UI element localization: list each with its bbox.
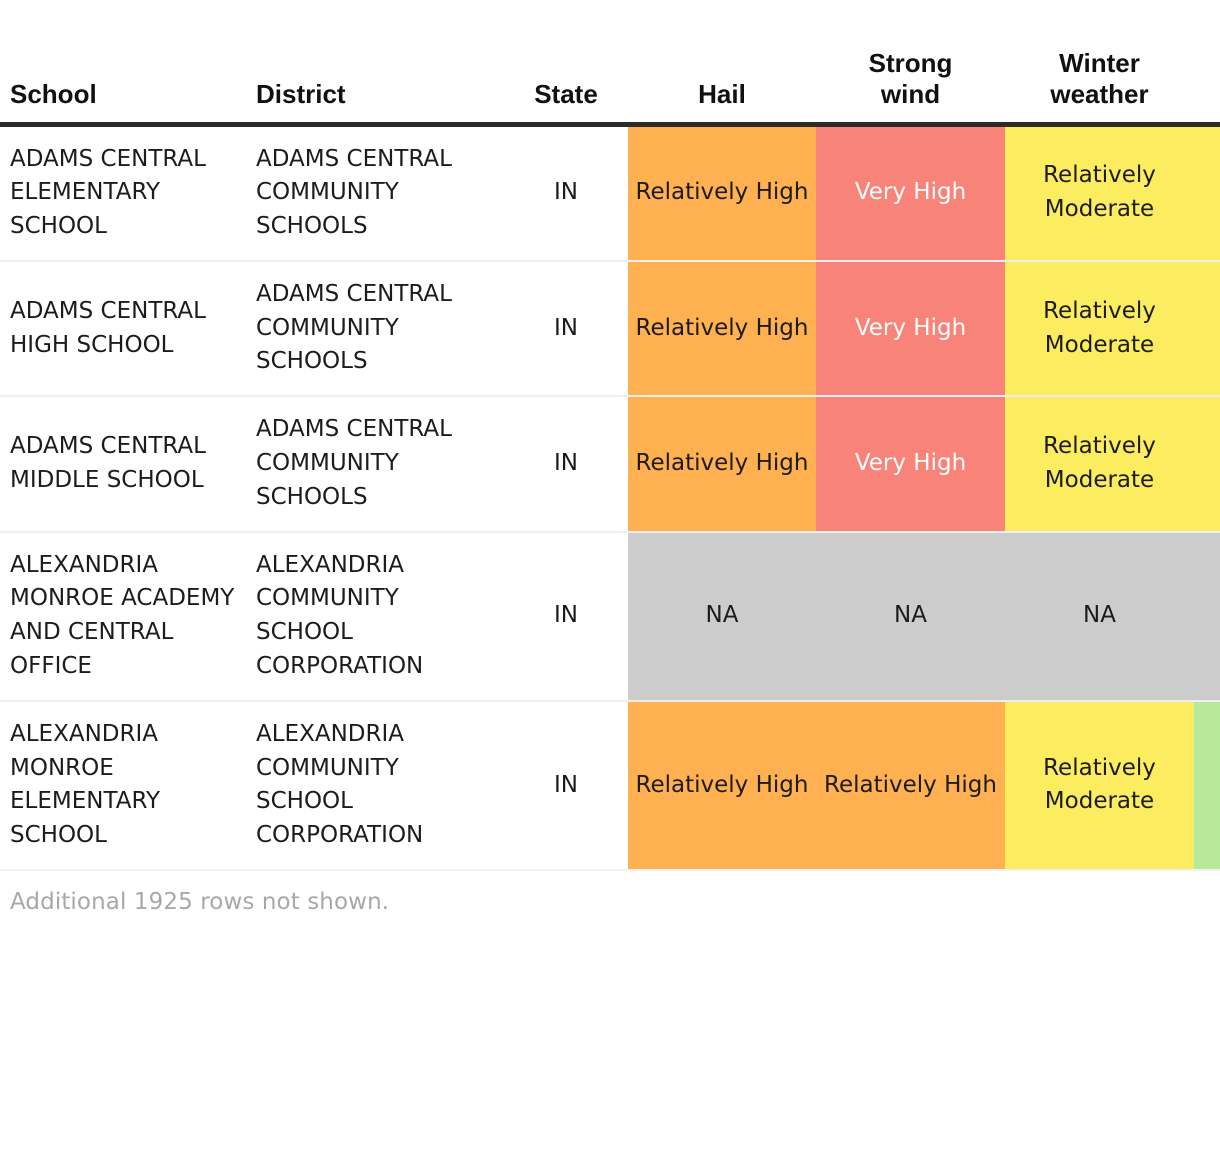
cell-risk-winter: NA <box>1005 532 1194 701</box>
cell-risk-wind: NA <box>816 532 1005 701</box>
table-row: ADAMS CENTRAL HIGH SCHOOL ADAMS CENTRAL … <box>0 261 1220 396</box>
cell-school: ALEXANDRIA MONROE ELEMENTARY SCHOOL <box>0 701 252 870</box>
cell-district: ADAMS CENTRAL COMMUNITY SCHOOLS <box>252 124 504 261</box>
table-header: School District State Hail Strong wind W… <box>0 0 1220 124</box>
cell-risk-overflow <box>1194 261 1220 396</box>
cell-district: ALEXANDRIA COMMUNITY SCHOOL CORPORATION <box>252 701 504 870</box>
cell-risk-winter: Relatively Moderate <box>1005 124 1194 261</box>
cell-school: ADAMS CENTRAL ELEMENTARY SCHOOL <box>0 124 252 261</box>
column-header-overflow <box>1194 0 1220 124</box>
cell-school: ALEXANDRIA MONROE ACADEMY AND CENTRAL OF… <box>0 532 252 701</box>
cell-state: IN <box>504 124 628 261</box>
column-header-district[interactable]: District <box>252 0 504 124</box>
cell-risk-hail: NA <box>628 532 816 701</box>
cell-risk-winter: Relatively Moderate <box>1005 701 1194 870</box>
cell-risk-hail: Relatively High <box>628 261 816 396</box>
cell-risk-overflow <box>1194 532 1220 701</box>
cell-risk-wind: Relatively High <box>816 701 1005 870</box>
cell-state: IN <box>504 532 628 701</box>
column-header-state[interactable]: State <box>504 0 628 124</box>
cell-risk-winter: Relatively Moderate <box>1005 261 1194 396</box>
cell-risk-winter: Relatively Moderate <box>1005 396 1194 531</box>
column-header-winter-weather[interactable]: Winter weather <box>1005 0 1194 124</box>
risk-table-container: School District State Hail Strong wind W… <box>0 0 1220 1160</box>
column-header-school[interactable]: School <box>0 0 252 124</box>
column-header-strong-wind-line2: wind <box>881 79 940 109</box>
table-row: ALEXANDRIA MONROE ELEMENTARY SCHOOL ALEX… <box>0 701 1220 870</box>
table-footnote: Additional 1925 rows not shown. <box>0 871 1220 915</box>
cell-risk-hail: Relatively High <box>628 701 816 870</box>
school-hazard-risk-table: School District State Hail Strong wind W… <box>0 0 1220 871</box>
cell-school: ADAMS CENTRAL HIGH SCHOOL <box>0 261 252 396</box>
cell-risk-overflow <box>1194 701 1220 870</box>
cell-risk-wind: Very High <box>816 261 1005 396</box>
cell-risk-wind: Very High <box>816 124 1005 261</box>
table-row: ALEXANDRIA MONROE ACADEMY AND CENTRAL OF… <box>0 532 1220 701</box>
cell-district: ADAMS CENTRAL COMMUNITY SCHOOLS <box>252 261 504 396</box>
cell-state: IN <box>504 261 628 396</box>
cell-state: IN <box>504 701 628 870</box>
cell-risk-hail: Relatively High <box>628 124 816 261</box>
table-row: ADAMS CENTRAL MIDDLE SCHOOL ADAMS CENTRA… <box>0 396 1220 531</box>
column-header-winter-weather-line2: weather <box>1050 79 1148 109</box>
cell-risk-wind: Very High <box>816 396 1005 531</box>
table-body: ADAMS CENTRAL ELEMENTARY SCHOOL ADAMS CE… <box>0 124 1220 870</box>
column-header-winter-weather-line1: Winter <box>1059 48 1140 78</box>
cell-risk-hail: Relatively High <box>628 396 816 531</box>
cell-district: ADAMS CENTRAL COMMUNITY SCHOOLS <box>252 396 504 531</box>
column-header-strong-wind-line1: Strong <box>869 48 953 78</box>
table-row: ADAMS CENTRAL ELEMENTARY SCHOOL ADAMS CE… <box>0 124 1220 261</box>
cell-state: IN <box>504 396 628 531</box>
cell-district: ALEXANDRIA COMMUNITY SCHOOL CORPORATION <box>252 532 504 701</box>
column-header-hail[interactable]: Hail <box>628 0 816 124</box>
cell-risk-overflow <box>1194 124 1220 261</box>
header-row: School District State Hail Strong wind W… <box>0 0 1220 124</box>
cell-school: ADAMS CENTRAL MIDDLE SCHOOL <box>0 396 252 531</box>
cell-risk-overflow <box>1194 396 1220 531</box>
column-header-strong-wind[interactable]: Strong wind <box>816 0 1005 124</box>
